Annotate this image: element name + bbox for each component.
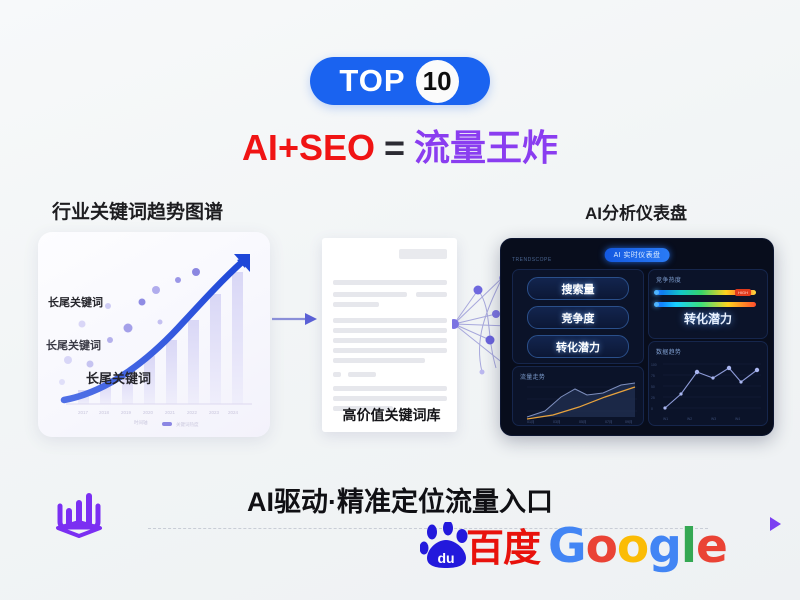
baidu-du-text: du (437, 550, 454, 566)
google-letter-e: e (696, 519, 727, 574)
svg-text:2024: 2024 (228, 410, 239, 415)
search-engine-logos: du 百度 Google (420, 522, 727, 570)
google-letter-g2: g (648, 519, 681, 574)
google-letter-g1: G (548, 519, 586, 574)
svg-text:75: 75 (651, 374, 655, 378)
svg-text:2021: 2021 (165, 410, 176, 415)
svg-text:2022: 2022 (187, 410, 198, 415)
document-card-caption: 高价值关键词库 (324, 405, 459, 425)
gauge-bar-secondary (656, 302, 756, 307)
svg-text:W4: W4 (735, 417, 740, 421)
page-title: AI+SEO=流量王炸 (0, 127, 800, 168)
svg-text:W3: W3 (711, 417, 716, 421)
svg-text:50: 50 (651, 385, 655, 389)
svg-text:07月: 07月 (605, 419, 613, 424)
google-letter-l: l (681, 519, 696, 574)
right-section-caption: AI分析仪表盘 (585, 199, 687, 224)
left-section-caption: 行业关键词趋势图谱 (52, 197, 223, 224)
svg-text:2017: 2017 (78, 410, 89, 415)
dashboard-gauge-panel: 竞争热度 HIGH 转化潜力 (648, 269, 768, 339)
top-rank-badge: TOP 10 (310, 57, 490, 105)
svg-text:2020: 2020 (143, 410, 154, 415)
svg-text:03月: 03月 (553, 419, 561, 424)
dashboard-area-chart-panel: 流量走势 01月 03月 05月 07月 (512, 366, 644, 426)
flow-arrow-1 (272, 312, 318, 331)
trend-keyword-label-3: 长尾关键词 (86, 368, 151, 387)
svg-text:0: 0 (651, 407, 653, 411)
google-letter-o1: o (586, 519, 617, 574)
svg-text:25: 25 (651, 396, 655, 400)
svg-text:2019: 2019 (121, 410, 132, 415)
gauge-caption: 转化潜力 (649, 310, 767, 327)
gauge-status-tag: HIGH (735, 289, 751, 296)
dashboard-brand-label: TRENDSCOPE (512, 257, 552, 263)
baidu-wordmark: 百度 (466, 530, 540, 570)
keyword-trend-card: 2017 2018 2019 2020 2021 2022 2023 2024 … (38, 232, 270, 437)
footer-tagline: AI驱动·精准定位流量入口 (0, 480, 800, 519)
title-part-ai-seo: AI+SEO (242, 127, 375, 168)
slide-canvas: TOP 10 AI+SEO=流量王炸 行业关键词趋势图谱 AI分析仪表盘 (0, 0, 800, 600)
google-letter-o2: o (617, 519, 648, 574)
svg-text:2023: 2023 (209, 410, 220, 415)
svg-text:W2: W2 (687, 417, 692, 421)
title-equals-sign: = (384, 127, 405, 168)
svg-text:09月: 09月 (625, 419, 633, 424)
svg-text:关键词热度: 关键词热度 (176, 421, 199, 428)
play-triangle-icon (770, 517, 781, 531)
top-badge-label: TOP (339, 65, 405, 98)
baidu-logo: du 百度 (420, 522, 540, 570)
metric-pill-search-volume[interactable]: 搜索量 (527, 277, 629, 300)
document-header-chip (399, 249, 447, 259)
metric-pill-competition[interactable]: 竞争度 (527, 306, 629, 329)
baidu-paw-icon: du (420, 522, 472, 570)
trend-chart-svg: 2017 2018 2019 2020 2021 2022 2023 2024 … (38, 232, 270, 437)
svg-text:W1: W1 (663, 417, 668, 421)
trend-keyword-label-2: 长尾关键词 (46, 337, 101, 353)
keyword-document-card (322, 238, 457, 432)
area-chart-title: 流量走势 (520, 372, 545, 381)
data-chart-icon (48, 480, 110, 547)
svg-text:01月: 01月 (527, 419, 535, 424)
top-badge-number: 10 (423, 68, 452, 94)
gauge-panel-title: 竞争热度 (656, 275, 681, 284)
gauge-marker-secondary (654, 302, 659, 307)
gauge-marker-primary (654, 290, 659, 295)
svg-text:时间轴: 时间轴 (134, 419, 148, 426)
title-part-traffic: 流量王炸 (414, 127, 558, 168)
svg-text:2018: 2018 (99, 410, 110, 415)
ai-dashboard-card: AI 实时仪表盘 TRENDSCOPE 搜索量 竞争度 转化潜力 流量走势 (500, 238, 774, 436)
svg-text:100: 100 (651, 363, 657, 367)
top-badge-circle: 10 (416, 60, 459, 103)
google-logo: Google (548, 523, 727, 570)
dashboard-line-chart-panel: 数据趋势 (648, 341, 768, 426)
svg-text:05月: 05月 (579, 419, 587, 424)
dashboard-metrics-panel: 搜索量 竞争度 转化潜力 (512, 269, 644, 364)
line-chart-title: 数据趋势 (656, 347, 681, 356)
trend-keyword-label-1: 长尾关键词 (48, 294, 103, 310)
metric-pill-conversion[interactable]: 转化潜力 (527, 335, 629, 358)
dashboard-header-badge: AI 实时仪表盘 (605, 248, 670, 262)
